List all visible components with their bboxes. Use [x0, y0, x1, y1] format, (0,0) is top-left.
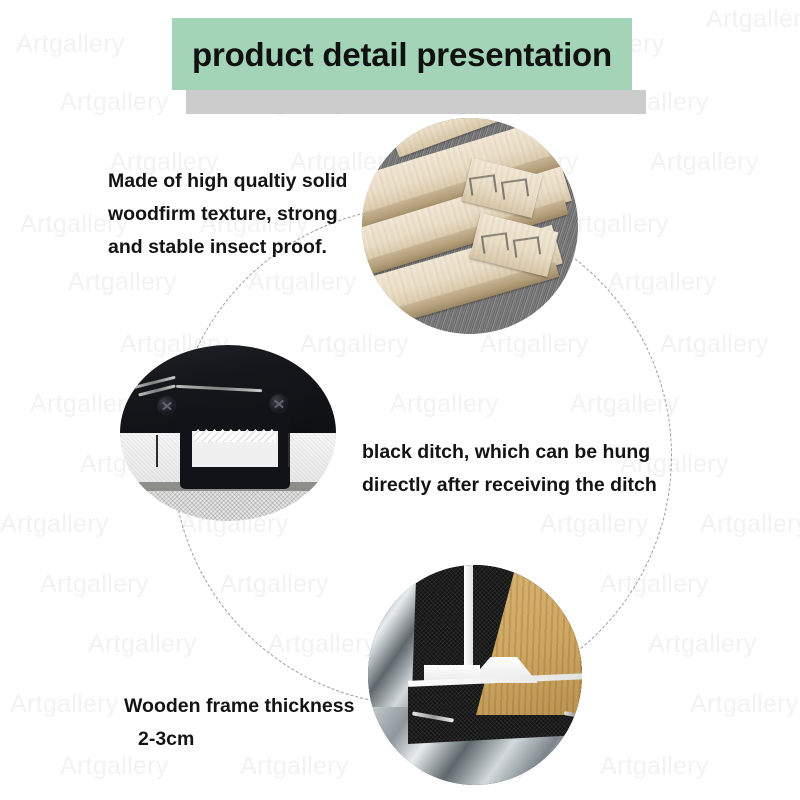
- frame-slot: [288, 433, 290, 467]
- watermark-text: Artgallery: [60, 88, 169, 117]
- watermark-text: Artgallery: [700, 510, 800, 539]
- screw-icon: [270, 395, 287, 412]
- watermark-text: Artgallery: [0, 510, 109, 539]
- sawtooth-hanger-photo: [120, 345, 336, 521]
- feature-line: Wooden frame thickness: [124, 690, 354, 723]
- staple-icon: [469, 174, 497, 195]
- wood-frame-strips-photo: [362, 118, 578, 334]
- product-detail-presentation-page: Artgallery Artgallery Artgallery Artgall…: [0, 0, 800, 800]
- canvas-weave-texture: [120, 491, 336, 521]
- feature-line: directly after receiving the ditch: [362, 469, 657, 502]
- watermark-text: Artgallery: [240, 752, 349, 781]
- feature-line: black ditch, which can be hung: [362, 436, 657, 469]
- watermark-text: Artgallery: [648, 630, 757, 659]
- watermark-text: Artgallery: [650, 148, 759, 177]
- staple-icon: [481, 232, 509, 253]
- watermark-text: Artgallery: [660, 330, 769, 359]
- watermark-text: Artgallery: [608, 268, 717, 297]
- watermark-text: Artgallery: [68, 268, 177, 297]
- watermark-text: Artgallery: [88, 630, 197, 659]
- watermark-text: Artgallery: [10, 690, 119, 719]
- feature-text-wood-quality: Made of high qualtiy solid woodfirm text…: [108, 165, 347, 264]
- feature-line: woodfirm texture, strong: [108, 198, 347, 231]
- feature-line: and stable insect proof.: [108, 231, 347, 264]
- feature-line: Made of high qualtiy solid: [108, 165, 347, 198]
- feature-text-black-ditch: black ditch, which can be hung directly …: [362, 436, 657, 502]
- screw-icon: [158, 397, 175, 414]
- watermark-text: Artgallery: [40, 570, 149, 599]
- staple-icon: [513, 236, 541, 257]
- canvas-corner-photo: [368, 565, 582, 785]
- page-title: product detail presentation: [192, 38, 612, 71]
- feature-text-frame-thickness: Wooden frame thickness 2-3cm: [124, 690, 354, 756]
- watermark-text: Artgallery: [600, 752, 709, 781]
- staple-icon: [501, 178, 529, 199]
- watermark-text: Artgallery: [690, 690, 799, 719]
- frame-slot: [156, 435, 158, 467]
- watermark-text: Artgallery: [60, 752, 169, 781]
- watermark-text: Artgallery: [16, 30, 125, 59]
- feature-line: 2-3cm: [124, 723, 354, 756]
- title-banner: product detail presentation: [172, 18, 632, 90]
- wood-photo-content: [362, 118, 578, 334]
- corner-photo-content: [368, 565, 582, 785]
- hanger-photo-content: [120, 345, 336, 521]
- title-banner-shadow: [186, 90, 646, 114]
- watermark-text: Artgallery: [706, 5, 800, 34]
